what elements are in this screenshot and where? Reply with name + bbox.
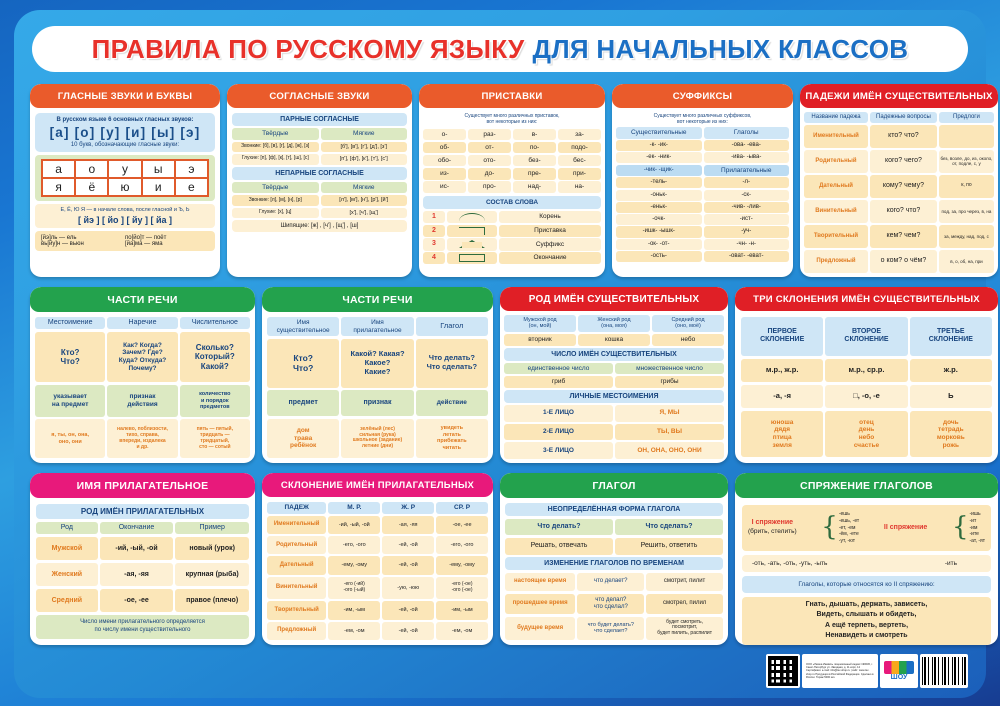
c2-ending: -им [969,525,985,532]
parts1-example: я, ты, он, она, оно, они [35,419,105,458]
card-consonants-header: СОГЛАСНЫЕ ЗВУКИ [227,84,412,108]
case-name: Именительный [804,125,868,148]
page-title-red: ПРАВИЛА ПО РУССКОМУ ЯЗЫКУ [92,34,525,65]
card-declensions: ТРИ СКЛОНЕНИЯ ИМЁН СУЩЕСТВИТЕЛЬНЫХ ПЕРВО… [735,287,998,463]
prefix-cell: обо- [423,155,466,167]
conjugation-endings-block: I спряжение (брить, стелить) { -ешь -ешь… [742,505,991,551]
adjective-col: Окончание [100,522,174,534]
tense-question: что делал? что сделал? [577,594,644,615]
vowel-letter: э [175,160,208,178]
number-example: грибы [615,376,724,388]
case-question: кто? что? [870,125,937,148]
card-adjective: ИМЯ ПРИЛАГАТЕЛЬНОЕ РОД ИМЁН ПРИЛАГАТЕЛЬН… [30,473,255,645]
prefix-cell: от- [468,142,511,154]
paired-voiceless-hard: Глухие: [п], [ф], [к], [т], [ш], [с] [232,154,319,164]
vowels-rule-block: Е, Ё, Ю Я — в начале слова, после гласно… [35,204,215,228]
prefix-cell: над- [513,181,556,193]
case-name: Дательный [804,175,868,198]
legal-text: ООО «Левша Ижевск» лицензионный индекс 1… [804,661,876,681]
declension-ending: □, -о, -е [825,385,907,408]
page-title-blue: ДЛЯ НАЧАЛЬНЫХ КЛАССОВ [533,34,909,65]
col-hard-1: Твёрдые [232,128,319,140]
pronoun-value: ТЫ, ВЫ [615,424,724,441]
vowel-letter: ы [142,160,175,178]
pronoun-person: 2-Е ЛИЦО [504,424,613,441]
cases-col-question: Падежные вопросы [870,112,937,123]
hissing-consonants: Шипящие: [ж] , [ч'] , [щ'] , [ш] [232,220,407,232]
tense-example: смотрел, пилил [646,594,723,615]
vowels-rule-sounds: [ йэ ] [ йо ] [ йу ] [ йа ] [37,215,213,225]
conjugation-2-name: II спряжение [884,524,927,531]
suffix-cell: -тель- [616,177,702,188]
c1-infinitive-endings: -оть, -ать, -оть, -уть, -ыть [752,560,827,567]
page-title: ПРАВИЛА ПО РУССКОМУ ЯЗЫКУ ДЛЯ НАЧАЛЬНЫХ … [32,26,968,72]
card-parts-of-speech-2: ЧАСТИ РЕЧИ Имя существительное Имя прила… [262,287,493,463]
prefix-cell: по- [513,142,556,154]
publisher-logo: ШОУ [882,657,916,685]
infinitive-example: Решить, ответить [615,538,723,555]
card-cases-header: ПАДЕЖИ ИМЁН СУЩЕСТВИТЕЛЬНЫХ [800,84,998,108]
parts2-meaning: признак [341,390,413,416]
infinitive-question: Что делать? [505,519,613,536]
vowel-example: вь[йу]н — вьюн [41,241,125,247]
vowel-letter: ё [75,178,108,196]
col-soft-1: Мягкие [321,128,408,140]
card-vowels-header: ГЛАСНЫЕ ЗВУКИ И БУКВЫ [30,84,220,108]
paired-voiceless-soft: [п'], [ф'], [к'], [т'], [с'] [321,154,408,164]
prefix-cell: в- [513,129,556,141]
adjdecl-f: -ей, -ой [382,536,434,554]
suffix-cell: -ок- -от- [616,239,702,250]
vowels-letters-wrap: а о у ы э я ё ю и е [35,155,215,201]
card-conjugation-header: СПРЯЖЕНИЕ ГЛАГОЛОВ [735,473,998,498]
parts2-example: увидеть летать прибежать читать [416,419,488,458]
c1-ending: -ешь, -ет [839,518,859,525]
footer: ООО «Левша Ижевск» лицензионный индекс 1… [766,654,968,688]
suffix-cell: -ек- -ник- [616,152,702,163]
prefix-cell: о- [423,129,466,141]
adjdecl-col: М. Р. [328,502,380,514]
composition-num: 1 [423,211,445,223]
adjdecl-n: -его, -ого [436,536,488,554]
card-suffixes: СУФФИКСЫ Существует много различных суфф… [612,84,793,277]
vowel-letter: я [42,178,75,196]
adjective-ending: -ое, -ее [100,589,174,612]
declension-ending: Ь [910,385,992,408]
parts1-question: Как? Когда? Зачем? Где? Куда? Откуда? По… [107,332,177,383]
conjugation-exception-title: Глаголы, которые относятся ко II спряжен… [742,576,991,593]
vowel-letter: ю [108,178,141,196]
prefix-cell: на- [558,181,601,193]
paired-consonants-title: ПАРНЫЕ СОГЛАСНЫЕ [232,113,407,126]
tense-title: ИЗМЕНЕНИЕ ГЛАГОЛОВ ПО ВРЕМЕНАМ [505,557,723,570]
adjective-col: Пример [175,522,249,534]
parts1-example: налево, поблизости, тихо, справа, вперед… [107,419,177,458]
pronoun-person: 3-Е ЛИЦО [504,442,613,459]
vowels-note-bottom: 10 букв, обозначающие гласные звуки: [38,142,212,148]
infinitive-question: Что сделать? [615,519,723,536]
unpaired-voiced-soft: [л'], [м'], [н'], [р'], [й'] [321,195,408,205]
composition-label: Суффикс [499,238,601,250]
adjdecl-n: -его (-ое) -ого (-ое) [436,577,488,600]
vowels-letter-grid: а о у ы э я ё ю и е [41,159,209,197]
c2-ending: -ишь [969,511,985,518]
suffix-cell: -оньк- [616,190,702,201]
adjdecl-f: -ей, -ой [382,622,434,640]
suffix-cell: -чив- -лив- [704,202,790,213]
adjdecl-m: -им, -ым [328,601,380,619]
suffix-cell: -к- -ик- [616,140,702,151]
tense-example: будет смотреть, посмотрит, будет пилить,… [646,617,723,640]
prefix-cell: раз- [468,129,511,141]
case-prepositions: в, о, об, на, при [939,250,994,273]
prefix-cell: без- [513,155,556,167]
case-prepositions: без, возле, до, из, около, от, подле, с,… [939,150,994,173]
vowels-sounds: [а] [о] [у] [и] [ы] [э] [38,125,212,140]
parts1-meaning: признак действия [107,385,177,417]
adjective-example: крупная (рыба) [175,563,249,586]
right-brace-icon: { [952,517,969,538]
suffix-cell: -чик- -щик- [616,165,702,177]
card-parts-of-speech-1: ЧАСТИ РЕЧИ Местоимение Наречие Числитель… [30,287,255,463]
parts1-question: Кто? Что? [35,332,105,383]
card-vowels: ГЛАСНЫЕ ЗВУКИ И БУКВЫ В русском языке 6 … [30,84,220,277]
adjdecl-f: -ей, -ой [382,601,434,619]
adjective-col: Род [36,522,98,534]
number-col: множественное число [615,363,724,375]
prefix-cell: об- [423,142,466,154]
case-question: кем? чем? [870,225,937,248]
logo-colorbars-icon [884,661,914,674]
adjdecl-f: -ей, -ой [382,556,434,574]
col-hard-2: Твёрдые [232,182,319,194]
declension-example: юноша дядя птица земля [741,411,823,457]
case-prepositions: за, между, над, под, с [939,225,994,248]
case-name: Предложный [804,250,868,273]
case-name: Винительный [804,200,868,223]
prefix-cell: бес- [558,155,601,167]
declension-gender: ж.р. [910,359,992,382]
col-verbs: Глаголы [704,127,790,139]
card-conjugation: СПРЯЖЕНИЕ ГЛАГОЛОВ I спряжение (брить, с… [735,473,998,645]
pronoun-value: ОН, ОНА, ОНО, ОНИ [615,442,724,459]
conjugation-infinitives-row: -оть, -ать, -оть, -уть, -ыть -ить [742,555,991,572]
adjective-gender: Средний [36,589,98,612]
composition-label: Окончание [499,252,601,264]
paired-voiced-hard: Звонкие: [б], [в], [г], [д], [ж], [з] [232,142,319,152]
unpaired-voiceless-soft: [х'], [ч'], [щ'] [321,208,408,218]
case-name: Творительный [804,225,868,248]
c1-ending: -ём, -ете [839,531,859,538]
vowels-note-top: В русском языке 6 основных гласных звуко… [38,117,212,123]
c2-ending: -ите [969,531,985,538]
adjective-example: правое (плечо) [175,589,249,612]
tense-question: что делает? [577,573,644,592]
adjective-gender: Мужской [36,537,98,560]
adjdecl-case: Винительный [267,577,326,600]
qr-code-box [766,654,800,688]
parts2-meaning: предмет [267,390,339,416]
parts1-example: пять — пятый, тридцать — тридцатый, сто … [180,419,250,458]
prefix-cell: про- [468,181,511,193]
adjdecl-m: -ем, -ом [328,622,380,640]
case-question: кого? чего? [870,150,937,173]
suffix-cell: -ова- -ева- [704,140,790,151]
suffix-cell: -ость- [616,251,702,262]
legal-box: ООО «Левша Ижевск» лицензионный индекс 1… [802,654,878,688]
parts1-col: Местоимение [35,317,105,329]
root-icon [447,211,497,223]
number-example: гриб [504,376,613,388]
conjugation-1-name: I спряжение [748,519,797,528]
suffixes-note: Существует много различных суффиксов, во… [616,112,789,126]
gender-col: Средний род (оно, моё) [652,315,724,332]
composition-label: Корень [499,211,601,223]
word-composition-title: СОСТАВ СЛОВА [423,196,601,209]
adjdecl-m: -его, -ого [328,536,380,554]
c1-ending: -ешь [839,511,859,518]
prefix-cell: пре- [513,168,556,180]
vowel-letter: у [108,160,141,178]
composition-num: 2 [423,225,445,237]
card-verb: ГЛАГОЛ НЕОПРЕДЕЛЁННАЯ ФОРМА ГЛАГОЛА Что … [500,473,728,645]
adjective-ending: -ий, -ый, -ой [100,537,174,560]
adjective-example: новый (урок) [175,537,249,560]
parts2-question: Какой? Какая? Какое? Какие? [341,339,413,388]
noun-number-title: ЧИСЛО ИМЁН СУЩЕСТВИТЕЛЬНЫХ [504,348,724,361]
prefix-cell: за- [558,129,601,141]
number-col: единственное число [504,363,613,375]
suffix-cell: -ива- -ыва- [704,152,790,163]
case-name: Родительный [804,150,868,173]
left-brace-icon: { [821,517,838,538]
tense-name: будущее время [505,617,575,640]
adjdecl-col: Ж. Р [382,502,434,514]
case-question: кому? чему? [870,175,937,198]
card-noun-gender: РОД ИМЁН СУЩЕСТВИТЕЛЬНЫХ Мужской род (он… [500,287,728,463]
card-prefixes-header: ПРИСТАВКИ [419,84,605,108]
declension-col: ПЕРВОЕ СКЛОНЕНИЕ [741,317,823,356]
adjdecl-n: -им, -ым [436,601,488,619]
adjdecl-case: Предложный [267,622,326,640]
adjdecl-case: Именительный [267,516,326,534]
suffix-cell: -ишк- -ышк- [616,226,702,237]
suffix-cell: -ск- [704,190,790,201]
c1-ending: -ут, -ют [839,538,859,545]
prefix-cell: подо- [558,142,601,154]
vowel-letter: е [175,178,208,196]
vowels-note-block: В русском языке 6 основных гласных звуко… [35,113,215,152]
suffix-cell: -оват- -еват- [704,251,790,262]
adjdecl-m: -ему, -ому [328,556,380,574]
tense-name: прошедшее время [505,594,575,615]
cases-col-prep: Предлоги [939,112,994,123]
gender-col: Женский род (она, моя) [578,315,650,332]
logo-label: ШОУ [891,674,908,681]
prefixes-note: Существует много различных приставок, во… [423,112,601,127]
declension-example: дочь тетрадь морковь рожь [910,411,992,457]
suffix-cell: -чн- -н- [704,239,790,250]
c1-ending: -ет, -ем [839,525,859,532]
parts2-example: дом трава ребёнок [267,419,339,458]
tense-question: что будет делать? что сделает? [577,617,644,640]
card-adj-declension-header: СКЛОНЕНИЕ ИМЁН ПРИЛАГАТЕЛЬНЫХ [262,473,493,497]
prefix-cell: при- [558,168,601,180]
case-question: кого? что? [870,200,937,223]
card-adjective-declension: СКЛОНЕНИЕ ИМЁН ПРИЛАГАТЕЛЬНЫХ ПАДЕЖ М. Р… [262,473,493,645]
adjdecl-m: -ий, -ый, -ой [328,516,380,534]
adjective-gender: Женский [36,563,98,586]
card-consonants: СОГЛАСНЫЕ ЗВУКИ ПАРНЫЕ СОГЛАСНЫЕ Твёрдые… [227,84,412,277]
adjdecl-case: Дательный [267,556,326,574]
gender-example: вторник [504,334,576,346]
suffix-cell: -л- [704,177,790,188]
parts2-col: Имя прилагательное [341,317,413,336]
card-verb-header: ГЛАГОЛ [500,473,728,498]
parts2-question: Кто? Что? [267,339,339,388]
paired-voiced-soft: [б'], [в'], [г'], [д'], [з'] [321,142,408,152]
qr-code-icon [768,656,798,686]
card-suffixes-header: СУФФИКСЫ [612,84,793,108]
suffix-cell: -еньк- [616,202,702,213]
cards-grid: ГЛАСНЫЕ ЗВУКИ И БУКВЫ В русском языке 6 … [30,84,970,646]
adjdecl-n: -ем, -ом [436,622,488,640]
conjugation-1-note: (брить, стелить) [748,528,797,536]
suffix-cell: -очк- [616,214,702,225]
card-gender-header: РОД ИМЁН СУЩЕСТВИТЕЛЬНЫХ [500,287,728,311]
parts1-col: Наречие [107,317,177,329]
prefix-cell: до- [468,168,511,180]
parts2-col: Глагол [416,317,488,336]
parts2-question: Что делать? Что сделать? [416,339,488,388]
adjdecl-case: Родительный [267,536,326,554]
c2-ending: -ат, -ят [969,538,985,545]
infinitive-title: НЕОПРЕДЕЛЁННАЯ ФОРМА ГЛАГОЛА [505,503,723,516]
pronoun-value: Я, МЫ [615,405,724,422]
declension-gender: м.р., ср.р. [825,359,907,382]
declension-col: ВТОРОЕ СКЛОНЕНИЕ [825,317,907,356]
adjdecl-n: -ему, -ому [436,556,488,574]
adjdecl-n: -ое, -ее [436,516,488,534]
prefix-cell: ото- [468,155,511,167]
card-cases: ПАДЕЖИ ИМЁН СУЩЕСТВИТЕЛЬНЫХ Название пад… [800,84,998,277]
adjdecl-col: ПАДЕЖ [267,502,326,514]
adjective-gender-title: РОД ИМЁН ПРИЛАГАТЕЛЬНЫХ [36,504,249,519]
suffix-cell: -уч- [704,226,790,237]
vowels-rule: Е, Ё, Ю Я — в начале слова, после гласно… [37,207,213,213]
pronoun-person: 1-Е ЛИЦО [504,405,613,422]
case-prepositions [939,125,994,148]
gender-example: небо [652,334,724,346]
adjective-ending: -ая, -яя [100,563,174,586]
vowel-example: [йа]ма — яма [125,241,209,247]
card-prefixes: ПРИСТАВКИ Существует много различных при… [419,84,605,277]
unpaired-voiceless-hard: Глухие: [х], [ц] [232,208,319,218]
parts1-meaning: количество и порядок предметов [180,385,250,417]
adjdecl-col: СР. Р [436,502,488,514]
parts2-col: Имя существительное [267,317,339,336]
parts1-meaning: указывает на предмет [35,385,105,417]
declension-example: отец день небо счастье [825,411,907,457]
vowel-letter: и [142,178,175,196]
ending-icon [447,252,497,264]
adjdecl-case: Творительный [267,601,326,619]
parts1-question: Сколько? Который? Какой? [180,332,250,383]
adjdecl-m: -его (-ий) -ого (-ый) [328,577,380,600]
parts2-example: зелёный (лес) сильная (рука) школьное (з… [341,419,413,458]
c2-ending: -ит [969,518,985,525]
case-prepositions: под, за, про через, в, на [939,200,994,223]
c2-infinitive-endings: -ить [945,560,981,567]
barcode-icon [922,657,966,685]
composition-num: 4 [423,252,445,264]
suffix-icon [447,238,497,250]
poster-background: ПРАВИЛА ПО РУССКОМУ ЯЗЫКУ ДЛЯ НАЧАЛЬНЫХ … [14,10,986,698]
declension-col: ТРЕТЬЕ СКЛОНЕНИЕ [910,317,992,356]
barcode-box [920,654,968,688]
prefix-cell: ис- [423,181,466,193]
vowels-examples-block: [йэ]ль — ель по[йо]т — поёт вь[йу]н — вь… [35,231,215,251]
declension-ending: -а, -я [741,385,823,408]
declension-gender: м.р., ж.р. [741,359,823,382]
parts2-meaning: действие [416,390,488,416]
composition-num: 3 [423,238,445,250]
col-adjectives: Прилагательные [704,165,790,177]
col-nouns: Существительные [616,127,702,139]
publisher-logo-box: ШОУ [880,654,918,688]
prefix-cell: из- [423,168,466,180]
gender-example: кошка [578,334,650,346]
gender-col: Мужской род (он, мой) [504,315,576,332]
adjective-note: Число имени прилагательного определяется… [36,615,249,639]
personal-pronouns-title: ЛИЧНЫЕ МЕСТОИМЕНИЯ [504,390,724,403]
tense-name: настоящее время [505,573,575,592]
conjugation-exceptions: Гнать, дышать, держать, зависеть, Видеть… [742,597,991,645]
col-soft-2: Мягкие [321,182,408,194]
parts1-col: Числительное [180,317,250,329]
unpaired-consonants-title: НЕПАРНЫЕ СОГЛАСНЫЕ [232,167,407,180]
card-parts2-header: ЧАСТИ РЕЧИ [262,287,493,312]
prefix-icon [447,225,497,237]
unpaired-voiced-hard: Звонкие: [л], [м], [н], [р] [232,195,319,205]
case-question: о ком? о чём? [870,250,937,273]
cases-col-name: Название падежа [804,112,868,123]
composition-label: Приставка [499,225,601,237]
card-adjective-header: ИМЯ ПРИЛАГАТЕЛЬНОЕ [30,473,255,498]
card-parts1-header: ЧАСТИ РЕЧИ [30,287,255,312]
vowel-letter: о [75,160,108,178]
infinitive-example: Решать, отвечать [505,538,613,555]
card-declensions-header: ТРИ СКЛОНЕНИЯ ИМЁН СУЩЕСТВИТЕЛЬНЫХ [735,287,998,311]
adjdecl-f: -ую, -юю [382,577,434,600]
case-prepositions: к, по [939,175,994,198]
vowel-letter: а [42,160,75,178]
suffix-cell: -ист- [704,214,790,225]
adjdecl-f: -ая, -яя [382,516,434,534]
tense-example: смотрит, пилит [646,573,723,592]
